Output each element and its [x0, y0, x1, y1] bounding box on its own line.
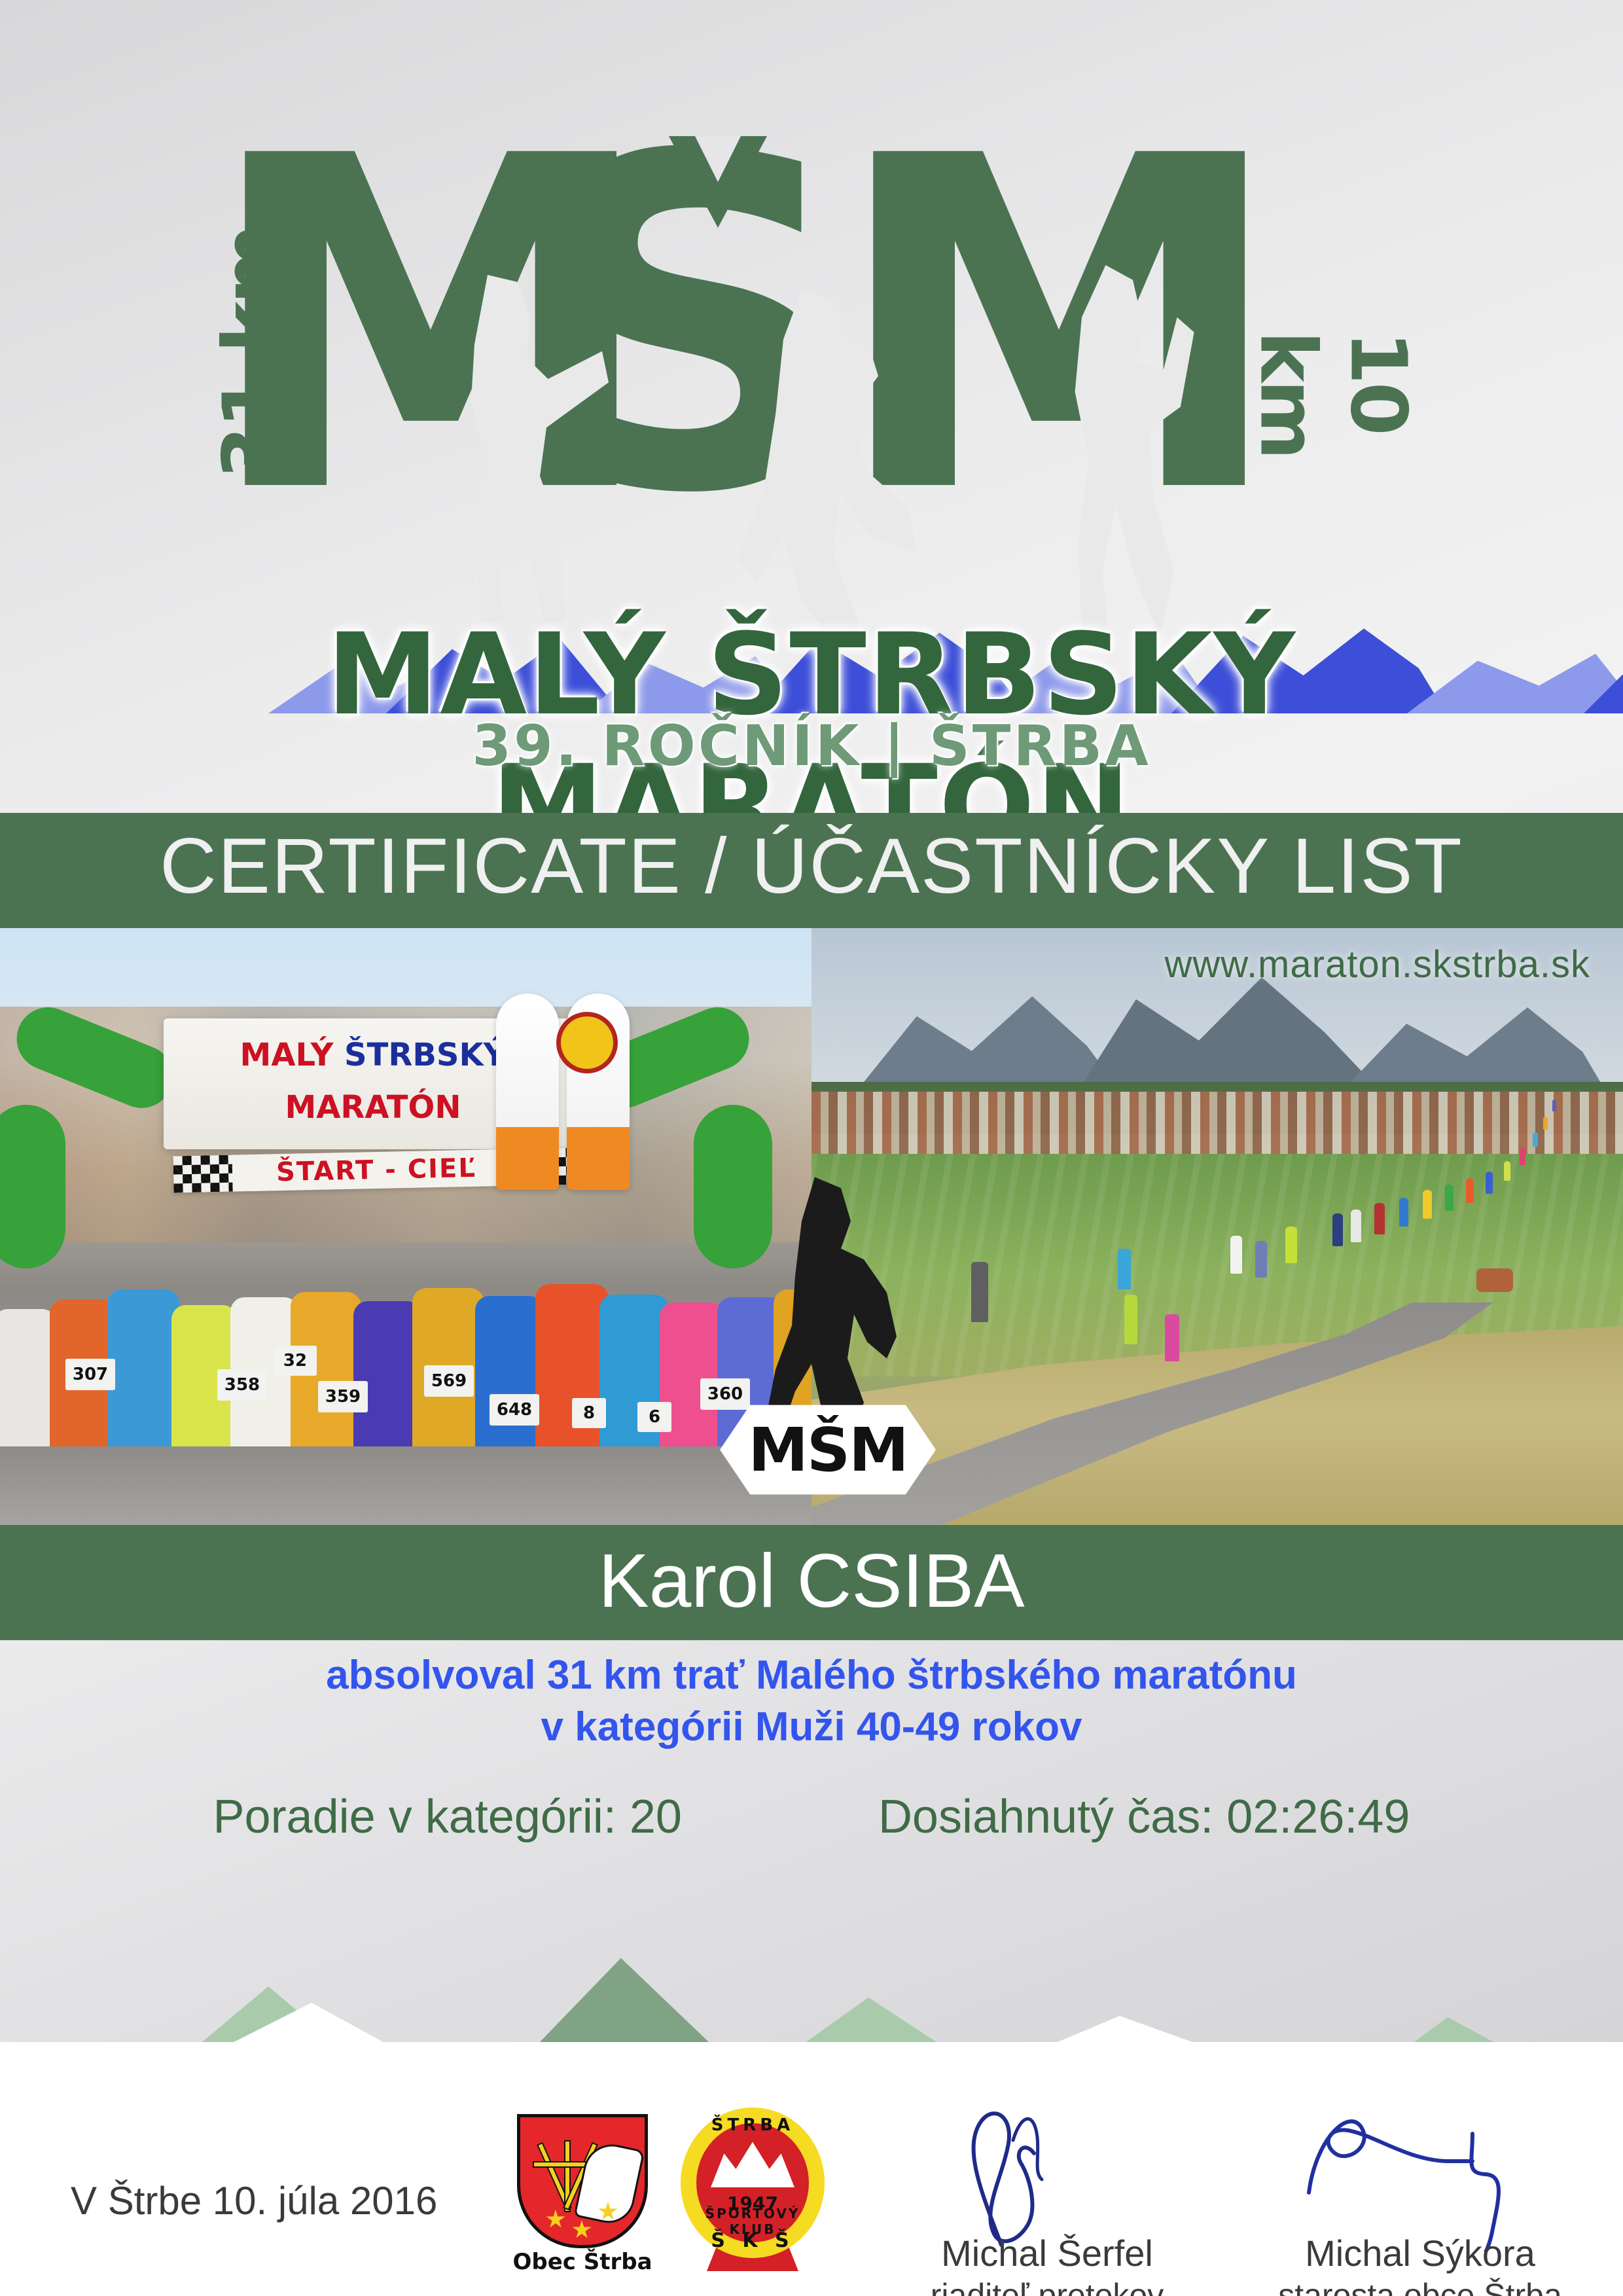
signature-mark-icon: [1276, 2101, 1551, 2251]
certificate-footer: V Štrbe 10. júla 2016 Obec Štrba ŠTRBA 1…: [0, 2042, 1623, 2296]
inflatable-start-arch: MALÝ ŠTRBSKÝ MARATÓN ŠTART - CIEĽ: [13, 1007, 746, 1177]
caron-accent-inner-icon: [695, 136, 741, 182]
course-runner: [1399, 1198, 1408, 1227]
sports-club-logo: ŠTRBA 1947 ŠPORTOVÝ KLUB Š K Š: [681, 2108, 825, 2271]
course-runner: [1118, 1249, 1131, 1289]
msm-emblem-overlay: MŠM: [720, 1172, 936, 1525]
result-line-2: v kategórii Muži 40-49 rokov: [0, 1701, 1623, 1753]
course-runner: [1533, 1132, 1538, 1147]
signatory-name: Michal Sýkora: [1237, 2232, 1603, 2274]
runner-bib: 569: [424, 1365, 474, 1397]
result-stats-row: Poradie v kategórii: 20 Dosiahnutý čas: …: [0, 1790, 1623, 1844]
checker-flag-left-icon: [173, 1155, 232, 1193]
result-description: absolvoval 31 km trať Malého štrbského m…: [0, 1649, 1623, 1753]
arch-word-strbsky: ŠTRBSKÝ: [344, 1037, 506, 1073]
photo-start-line: MALÝ ŠTRBSKÝ MARATÓN ŠTART - CIEĽ: [0, 928, 811, 1525]
emblem-label: MŠM: [720, 1415, 936, 1485]
event-logo-block: 31 km 10 km M S M: [0, 0, 1623, 813]
certificate-page: 31 km 10 km M S M: [0, 0, 1623, 2296]
course-runner: [1543, 1117, 1548, 1130]
runner-bib: 6: [637, 1402, 671, 1432]
course-runner: [1230, 1236, 1242, 1274]
course-runner: [1255, 1241, 1267, 1278]
municipality-label: Obec Štrba: [497, 2249, 668, 2275]
msm-logo: 31 km 10 km M S M: [229, 26, 1400, 687]
signatory-name: Michal Šerfel: [864, 2232, 1230, 2274]
event-subtitle: 39. ROČNÍK | ŠTRBA: [0, 713, 1623, 779]
signature-mark-icon: [903, 2101, 1178, 2251]
street-surface: [0, 1446, 811, 1525]
course-runner: [1351, 1210, 1361, 1242]
village-rooftops: [811, 1092, 1623, 1164]
runner-bib: 8: [572, 1398, 606, 1428]
runner-bib: 359: [318, 1381, 368, 1412]
course-runner: [1445, 1185, 1454, 1211]
course-runner: [1332, 1213, 1343, 1246]
course-runner: [1165, 1314, 1179, 1361]
club-abbreviation: Š K Š: [681, 2229, 825, 2252]
municipality-crest-logo: Obec Štrba: [517, 2114, 648, 2265]
arch-word-maly: MALÝ: [240, 1037, 334, 1073]
runner-bib: 648: [490, 1394, 539, 1426]
category-rank: Poradie v kategórii: 20: [213, 1790, 682, 1844]
result-line-1: absolvoval 31 km trať Malého štrbského m…: [0, 1649, 1623, 1701]
signatory-role: riaditeľ pretekov: [864, 2276, 1230, 2296]
course-spectator: [971, 1262, 988, 1322]
course-runner: [1374, 1203, 1385, 1234]
certificate-title-band: CERTIFICATE / ÚČASTNÍCKY LIST: [0, 813, 1623, 928]
course-runner: [1486, 1172, 1493, 1194]
certificate-title: CERTIFICATE / ÚČASTNÍCKY LIST: [0, 821, 1623, 911]
athlete-name-band: Karol CSIBA: [0, 1525, 1623, 1640]
logo-letter-m-second: M: [831, 98, 1274, 556]
cow-icon: [1476, 1268, 1513, 1292]
msm-lettering: M S M: [229, 124, 1400, 530]
finish-time: Dosiahnutý čas: 02:26:49: [878, 1790, 1410, 1844]
course-runner: [1124, 1295, 1137, 1344]
sponsor-seal-icon: [556, 1012, 618, 1073]
arch-word-maraton: MARATÓN: [285, 1089, 461, 1126]
course-runner: [1423, 1190, 1432, 1219]
course-runner: [1552, 1100, 1556, 1111]
course-runner: [1285, 1227, 1297, 1263]
issue-date: V Štrbe 10. júla 2016: [71, 2178, 437, 2223]
start-finish-text: ŠTART - CIEĽ: [276, 1153, 477, 1187]
website-watermark: www.maraton.skstrba.sk: [1164, 942, 1590, 986]
club-name-top: ŠTRBA: [681, 2115, 825, 2135]
course-runner: [1520, 1148, 1525, 1165]
runner-bib: 32: [274, 1346, 317, 1376]
signatory-role: starosta obce Štrba: [1237, 2276, 1603, 2296]
runner-bib: 307: [65, 1359, 115, 1390]
athlete-name: Karol CSIBA: [0, 1537, 1623, 1624]
course-runner: [1466, 1178, 1474, 1203]
course-runner: [1504, 1161, 1510, 1181]
sponsor-flag-left: [496, 994, 559, 1190]
runner-bib: 358: [217, 1369, 267, 1401]
